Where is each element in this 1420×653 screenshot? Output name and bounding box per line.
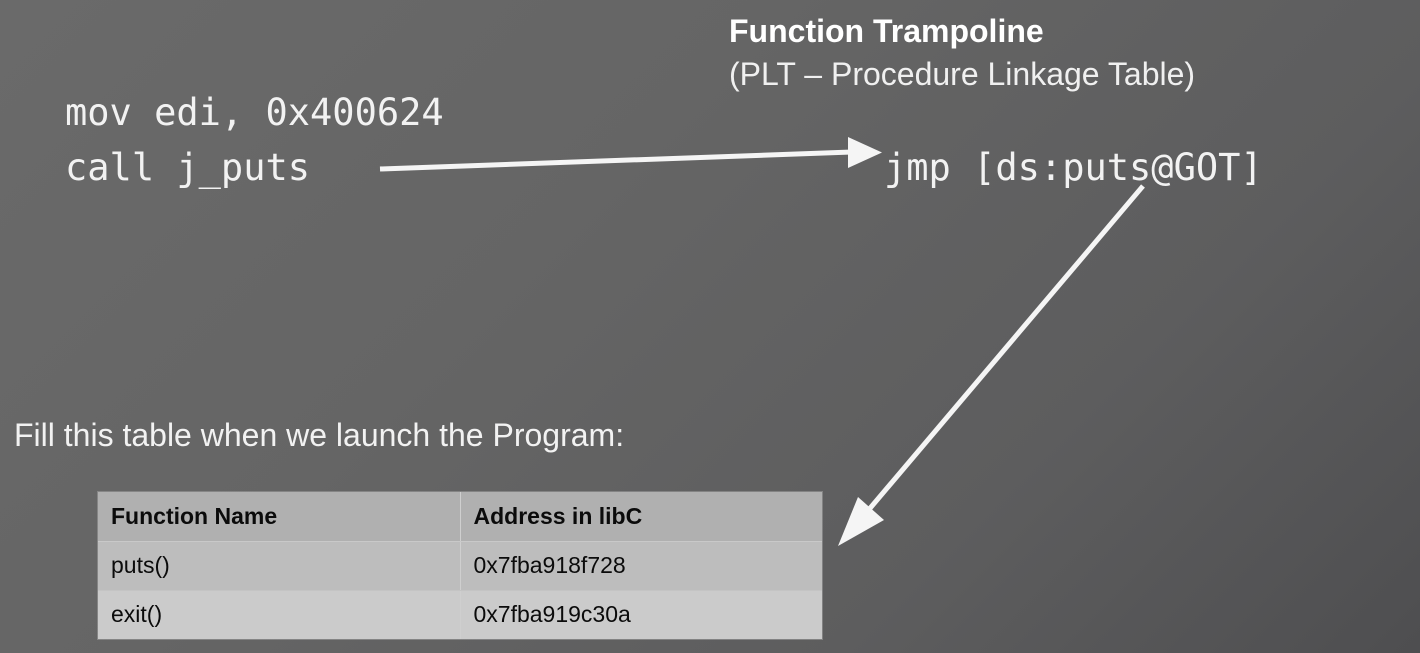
column-header-address: Address in libC [460, 492, 822, 541]
table-row: puts() 0x7fba918f728 [98, 541, 822, 590]
table-row: exit() 0x7fba919c30a [98, 590, 822, 639]
cell-address: 0x7fba919c30a [460, 590, 822, 639]
column-header-function-name: Function Name [98, 492, 460, 541]
fill-table-prompt: Fill this table when we launch the Progr… [14, 417, 624, 454]
trampoline-title: Function Trampoline [729, 10, 1420, 52]
table-header-row: Function Name Address in libC [98, 492, 822, 541]
slide-canvas: mov edi, 0x400624 call j_puts Function T… [0, 0, 1420, 653]
cell-address: 0x7fba918f728 [460, 541, 822, 590]
cell-function-name: puts() [98, 541, 460, 590]
trampoline-subtitle: (PLT – Procedure Linkage Table) [729, 52, 1420, 96]
got-table-head: Function Name Address in libC [98, 492, 822, 541]
call-to-plt-arrow [380, 137, 882, 169]
cell-function-name: exit() [98, 590, 460, 639]
got-table: Function Name Address in libC puts() 0x7… [98, 492, 822, 639]
plt-stub-code: jmp [ds:puts@GOT] [884, 140, 1263, 195]
got-to-table-arrow [838, 186, 1143, 546]
got-table-body: puts() 0x7fba918f728 exit() 0x7fba919c30… [98, 541, 822, 639]
caller-assembly-code: mov edi, 0x400624 call j_puts [65, 85, 444, 195]
trampoline-heading: Function Trampoline (PLT – Procedure Lin… [729, 10, 1420, 96]
